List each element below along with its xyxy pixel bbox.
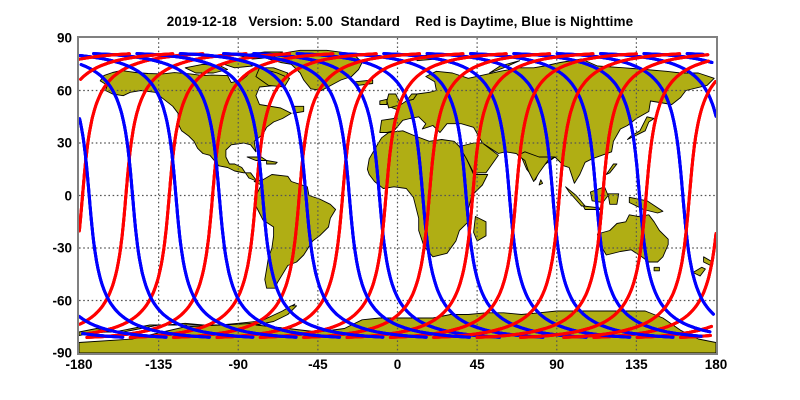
landmass-madagascar [474,217,486,242]
y-tick-label: 60 [14,83,72,98]
y-tick-label: 0 [14,188,72,203]
y-tick-label: -30 [14,241,72,256]
y-tick-label: 30 [14,136,72,151]
x-tick-label: 0 [394,357,402,372]
y-tick-label: -60 [14,293,72,308]
x-tick-label: -180 [65,357,92,372]
x-tick-label: 135 [625,357,648,372]
landmass-sri-lanka [539,180,543,185]
landmass-new-zealand-s [693,267,705,276]
y-axis-latitude: 9060300-30-60-90 [8,36,72,355]
y-tick-label: 90 [14,31,72,46]
page-title: 2019-12-18 Version: 5.00 Standard Red is… [0,14,800,29]
landmass-philippines [606,164,617,175]
landmass-hispaniola [267,161,278,165]
ground-track-map: 2019-12-18 Version: 5.00 Standard Red is… [0,0,800,400]
x-tick-label: 45 [470,357,485,372]
x-tick-label: -45 [308,357,328,372]
landmass-sumatra [566,187,586,206]
x-axis-longitude: -180-135-90-4504590135180 [77,357,718,379]
y-tick-label: -90 [14,346,72,361]
landmass-cuba [247,157,267,161]
x-tick-label: -90 [228,357,248,372]
landmass-borneo [590,187,608,203]
map-canvas [79,38,716,353]
plot-area [77,36,718,355]
x-tick-label: 90 [549,357,564,372]
x-tick-label: -135 [145,357,172,372]
landmass-tasmania [654,267,659,271]
x-tick-label: 180 [705,357,728,372]
landmass-australia [597,215,668,262]
landmass-ireland [380,99,387,104]
